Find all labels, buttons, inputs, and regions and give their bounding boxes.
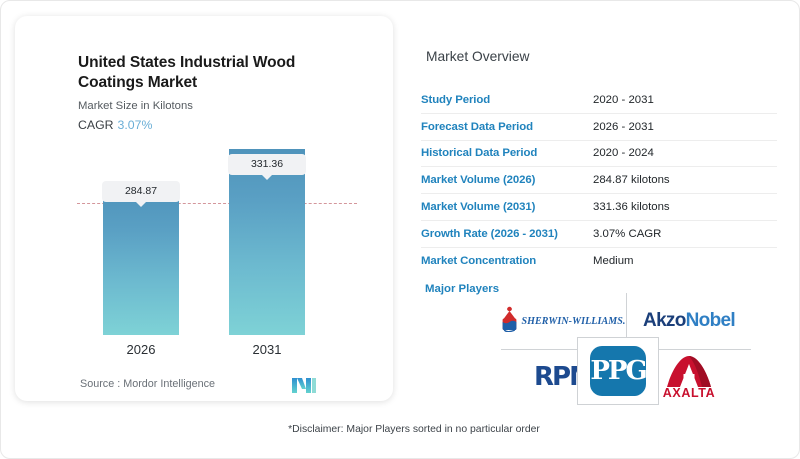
major-players-logo-grid: SHERWIN-WILLIAMS. AkzoNobel RPM AXALTA bbox=[501, 293, 751, 405]
x-axis-tick-2031: 2031 bbox=[229, 342, 305, 357]
row-label: Growth Rate (2026 - 2031) bbox=[421, 228, 593, 240]
row-label: Market Volume (2031) bbox=[421, 201, 593, 213]
table-row: Forecast Data Period 2026 - 2031 bbox=[421, 114, 777, 141]
table-row: Market Volume (2031) 331.36 kilotons bbox=[421, 194, 777, 221]
ppg-wordmark: PPG bbox=[590, 356, 645, 386]
major-players-label: Major Players bbox=[425, 283, 499, 295]
market-summary-infographic: United States Industrial Wood Coatings M… bbox=[0, 0, 800, 459]
axalta-wordmark: AXALTA bbox=[663, 386, 715, 400]
row-label: Forecast Data Period bbox=[421, 121, 593, 133]
row-value: 2020 - 2031 bbox=[593, 94, 654, 106]
row-label: Market Concentration bbox=[421, 255, 593, 267]
bar-value-label-2031: 331.36 bbox=[228, 154, 306, 175]
bar-chart-plot-area: 284.87 331.36 2026 2031 bbox=[15, 16, 393, 401]
table-row: Market Volume (2026) 284.87 kilotons bbox=[421, 167, 777, 194]
table-row: Study Period 2020 - 2031 bbox=[421, 87, 777, 114]
table-row: Growth Rate (2026 - 2031) 3.07% CAGR bbox=[421, 221, 777, 248]
row-label: Study Period bbox=[421, 94, 593, 106]
row-value: 2020 - 2024 bbox=[593, 147, 654, 159]
table-row: Historical Data Period 2020 - 2024 bbox=[421, 141, 777, 168]
sherwin-williams-paint-can-icon bbox=[501, 306, 518, 337]
player-logo-ppg: PPG bbox=[577, 337, 659, 405]
chart-source-text: Source : Mordor Intelligence bbox=[80, 378, 215, 390]
row-label: Historical Data Period bbox=[421, 147, 593, 159]
sherwin-williams-wordmark: SHERWIN-WILLIAMS. bbox=[521, 316, 625, 327]
row-value: 2026 - 2031 bbox=[593, 121, 654, 133]
akzonobel-wordmark-nobel: Nobel bbox=[686, 310, 735, 331]
row-value: 3.07% CAGR bbox=[593, 228, 661, 240]
row-value: Medium bbox=[593, 255, 634, 267]
mordor-intelligence-logo-icon bbox=[292, 378, 316, 393]
axalta-a-mark-icon bbox=[663, 355, 715, 388]
disclaimer-text: *Disclaimer: Major Players sorted in no … bbox=[288, 424, 540, 435]
row-label: Market Volume (2026) bbox=[421, 174, 593, 186]
akzonobel-wordmark-akzo: Akzo bbox=[643, 310, 686, 331]
market-overview-table: Study Period 2020 - 2031 Forecast Data P… bbox=[421, 87, 777, 275]
row-value: 284.87 kilotons bbox=[593, 174, 670, 186]
ppg-logo-tile: PPG bbox=[590, 346, 646, 396]
chart-card: United States Industrial Wood Coatings M… bbox=[15, 16, 393, 401]
market-overview-heading: Market Overview bbox=[426, 49, 530, 64]
disclaimer-note: *Disclaimer: Major Players sorted in no … bbox=[1, 424, 799, 435]
x-axis-tick-2026: 2026 bbox=[103, 342, 179, 357]
bar-2026[interactable] bbox=[103, 190, 179, 335]
bar-value-label-2026: 284.87 bbox=[102, 181, 180, 202]
row-value: 331.36 kilotons bbox=[593, 201, 670, 213]
table-row: Market Concentration Medium bbox=[421, 248, 777, 275]
